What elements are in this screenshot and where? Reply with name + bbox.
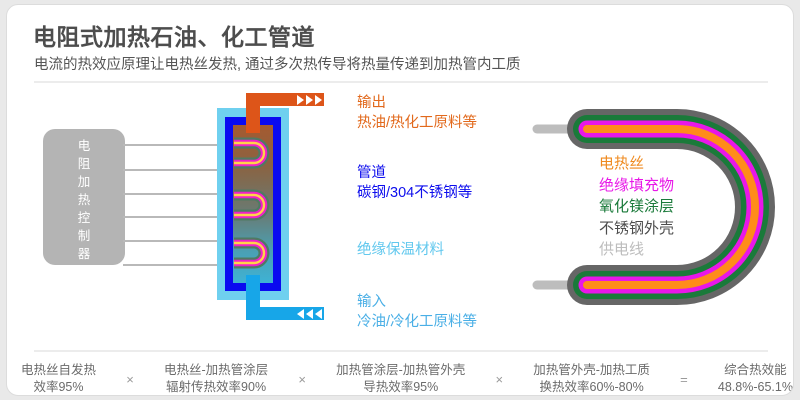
controller-char-3: 热 <box>43 191 125 209</box>
formula-operator: × <box>296 372 308 387</box>
heating-coil <box>234 235 276 271</box>
page-title: 电阻式加热石油、化工管道 <box>33 18 315 52</box>
power-wire <box>123 240 219 242</box>
power-wire <box>123 193 219 195</box>
formula-cell: 电热丝自发热 效率95% <box>21 362 96 396</box>
label-insulation: 绝缘保温材料 <box>357 240 444 260</box>
label-pipe-line1: 管道 <box>357 163 472 183</box>
resistance-heating-controller: 电 阻 加 热 控 制 器 <box>43 129 125 265</box>
controller-char-6: 器 <box>43 245 125 263</box>
page-subtitle: 电流的热效应原理让电热丝发热, 通过多次热传导将热量传递到加热管内工质 <box>34 53 521 74</box>
heating-coil <box>234 187 276 223</box>
legend-item-steel-shell: 不锈钢外壳 <box>599 218 674 240</box>
formula-cell-line2: 辐射传热效率90% <box>164 379 268 396</box>
formula-cell: 电热丝-加热管涂层 辐射传热效率90% <box>164 362 268 396</box>
efficiency-formula: 电热丝自发热 效率95% × 电热丝-加热管涂层 辐射传热效率90% × 加热管… <box>21 357 793 396</box>
controller-char-1: 阻 <box>43 155 125 173</box>
formula-cell-line1: 电热丝自发热 <box>21 362 96 379</box>
formula-cell: 加热管外壳-加热工质 换热效率60%-80% <box>533 362 650 396</box>
formula-cell: 加热管涂层-加热管外壳 导热效率95% <box>336 362 465 396</box>
controller-label: 电 阻 加 热 控 制 器 <box>43 137 125 263</box>
footer-divider <box>34 350 768 352</box>
controller-char-2: 加 <box>43 173 125 191</box>
formula-result-line2: 48.8%-65.1% <box>718 379 793 396</box>
formula-result-cell: 综合热效能 48.8%-65.1% <box>718 362 793 396</box>
formula-cell-line1: 电热丝-加热管涂层 <box>164 362 268 379</box>
label-pipe: 管道 碳钢/304不锈钢等 <box>357 163 472 203</box>
formula-cell-line2: 导热效率95% <box>336 379 465 396</box>
u-tube-legend: 电热丝 绝缘填充物 氧化镁涂层 不锈钢外壳 供电线 <box>599 153 674 261</box>
power-wire <box>123 216 219 218</box>
legend-item-power-line: 供电线 <box>599 239 674 261</box>
formula-cell-line1: 加热管外壳-加热工质 <box>533 362 650 379</box>
formula-cell-line2: 效率95% <box>21 379 96 396</box>
formula-operator: = <box>678 372 690 387</box>
diagram-stage: 电 阻 加 热 控 制 器 <box>7 85 794 343</box>
label-insulation-line1: 绝缘保温材料 <box>357 240 444 260</box>
infographic-card: 电阻式加热石油、化工管道 电流的热效应原理让电热丝发热, 通过多次热传导将热量传… <box>6 4 794 396</box>
formula-result-line1: 综合热效能 <box>718 362 793 379</box>
heating-coil <box>234 135 276 171</box>
formula-operator: × <box>124 372 136 387</box>
label-input-line1: 输入 <box>357 292 477 312</box>
power-wire <box>123 169 219 171</box>
formula-cell-line1: 加热管涂层-加热管外壳 <box>336 362 465 379</box>
controller-char-4: 控 <box>43 209 125 227</box>
legend-item-insulation-fill: 绝缘填充物 <box>599 175 674 197</box>
legend-item-mgo-coating: 氧化镁涂层 <box>599 196 674 218</box>
label-output-line2: 热油/热化工原料等 <box>357 113 477 133</box>
controller-char-0: 电 <box>43 137 125 155</box>
label-pipe-line2: 碳钢/304不锈钢等 <box>357 183 472 203</box>
label-output-line1: 输出 <box>357 93 477 113</box>
label-output: 输出 热油/热化工原料等 <box>357 93 477 133</box>
label-input: 输入 冷油/冷化工原料等 <box>357 292 477 332</box>
controller-char-5: 制 <box>43 227 125 245</box>
outlet-flow-arrow-icon <box>295 93 324 106</box>
inlet-flow-arrow-icon <box>295 307 324 320</box>
label-input-line2: 冷油/冷化工原料等 <box>357 312 477 332</box>
power-wire <box>123 264 219 266</box>
legend-item-heating-wire: 电热丝 <box>599 153 674 175</box>
power-wire <box>123 144 219 146</box>
formula-cell-line2: 换热效率60%-80% <box>533 379 650 396</box>
formula-operator: × <box>493 372 505 387</box>
header-divider <box>34 81 768 83</box>
